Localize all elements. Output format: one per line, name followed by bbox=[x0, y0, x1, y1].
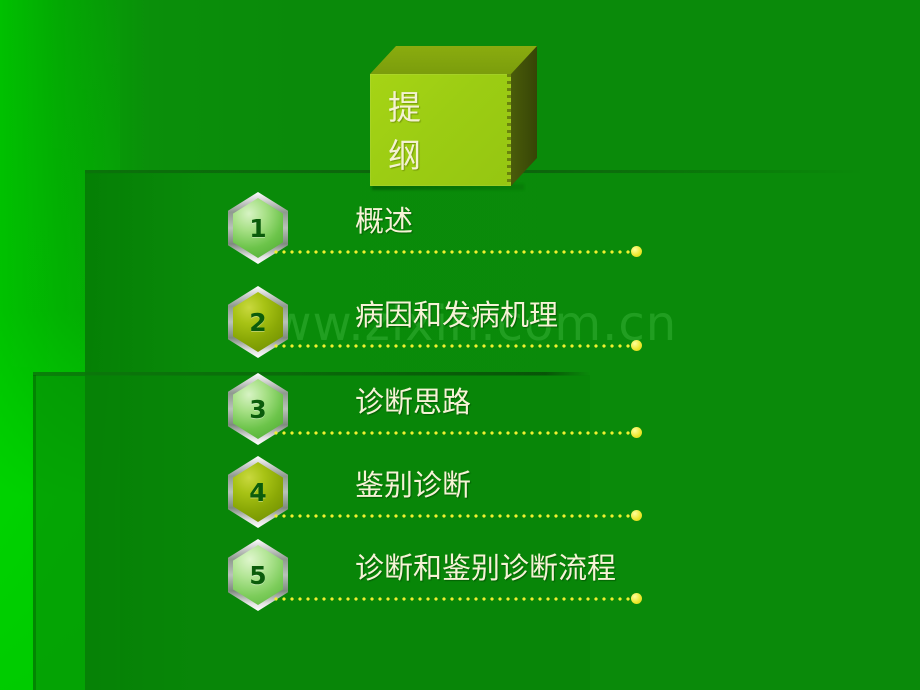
outline-item-label-4: 鉴别诊断 bbox=[355, 462, 471, 504]
leader-end-dot-5 bbox=[631, 593, 642, 604]
slide-title-line-1: 提 bbox=[388, 84, 498, 132]
dotted-leader-2 bbox=[272, 344, 630, 348]
slide-title: 提 纲 bbox=[388, 84, 498, 180]
slide-title-line-2: 纲 bbox=[388, 132, 498, 180]
outline-item-2[interactable]: 2 病因和发病机理 bbox=[0, 286, 920, 370]
title-cube: 提 纲 bbox=[370, 46, 537, 186]
outline-item-label-1: 概述 bbox=[355, 198, 413, 240]
presentation-slide: www.zixin.com.cn 提 纲 1 概述 2 病因和发病机理 bbox=[0, 0, 920, 690]
outline-item-5[interactable]: 5 诊断和鉴别诊断流程 bbox=[0, 539, 920, 623]
dotted-leader-5 bbox=[272, 597, 630, 601]
outline-item-label-2: 病因和发病机理 bbox=[355, 292, 558, 334]
cube-top-face bbox=[370, 46, 537, 74]
dotted-leader-4 bbox=[272, 514, 630, 518]
dotted-leader-1 bbox=[272, 250, 630, 254]
leader-end-dot-1 bbox=[631, 246, 642, 257]
leader-end-dot-4 bbox=[631, 510, 642, 521]
leader-end-dot-2 bbox=[631, 340, 642, 351]
outline-item-label-3: 诊断思路 bbox=[355, 379, 471, 421]
outline-item-label-5: 诊断和鉴别诊断流程 bbox=[355, 545, 616, 587]
outline-item-1[interactable]: 1 概述 bbox=[0, 192, 920, 276]
outline-item-3[interactable]: 3 诊断思路 bbox=[0, 373, 920, 457]
cube-edge-dots-icon bbox=[507, 74, 511, 186]
outline-item-4[interactable]: 4 鉴别诊断 bbox=[0, 456, 920, 540]
dotted-leader-3 bbox=[272, 431, 630, 435]
leader-end-dot-3 bbox=[631, 427, 642, 438]
